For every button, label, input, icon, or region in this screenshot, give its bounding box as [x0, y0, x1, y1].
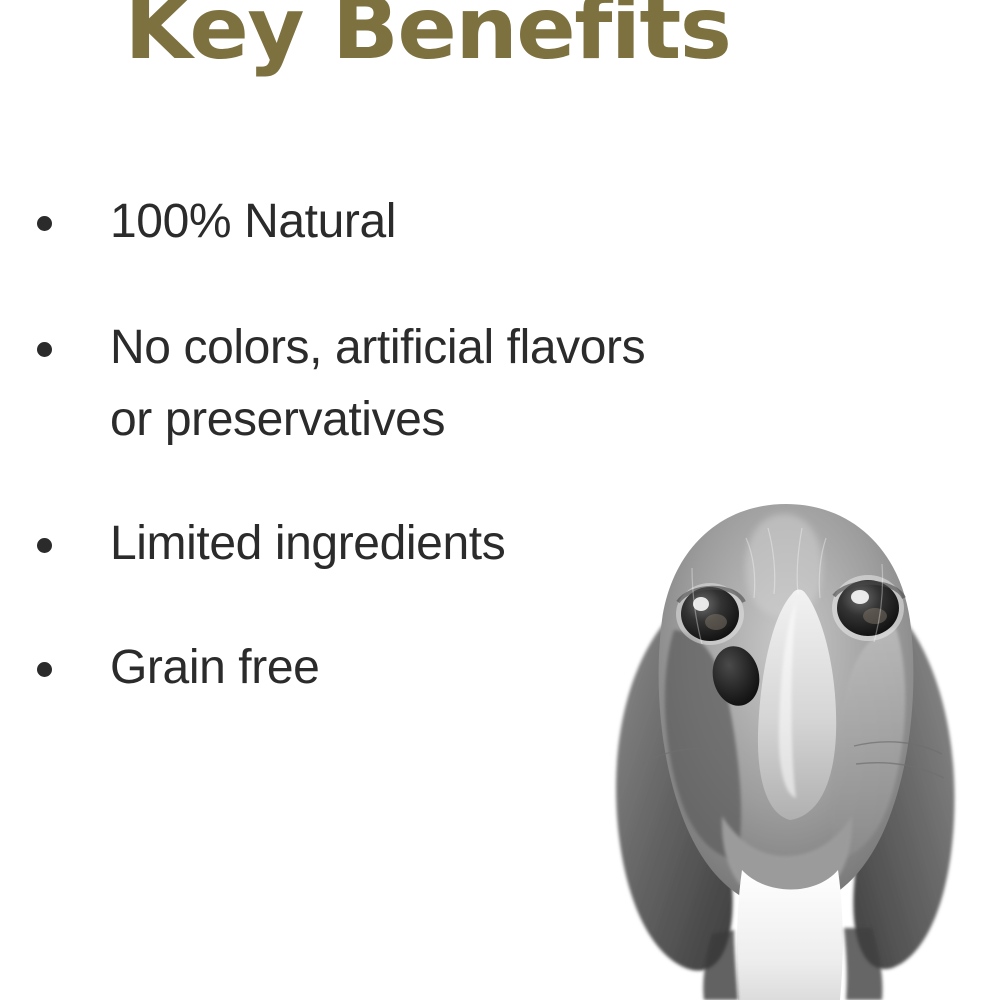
list-item-label-line2: or preservatives — [110, 384, 840, 456]
page-title: Key Benefits — [0, 0, 864, 72]
dog-photo — [596, 498, 968, 1000]
list-item-label: 100% Natural — [110, 186, 840, 258]
dog-chest — [737, 870, 843, 1000]
bullet-dot-icon — [37, 342, 52, 357]
list-item-label: No colors, artificial flavors — [110, 312, 840, 384]
bullet-dot-icon — [37, 662, 52, 677]
bullet-dot-icon — [37, 216, 52, 231]
dog-right-eye — [832, 575, 904, 641]
key-benefits-panel: Key Benefits 100% Natural No colors, art… — [0, 0, 1000, 1000]
beagle-dog-illustration — [596, 498, 968, 1000]
list-item: No colors, artificial flavors or preserv… — [0, 312, 840, 456]
bullet-dot-icon — [37, 538, 52, 553]
list-item: 100% Natural — [0, 186, 840, 258]
dog-left-eye — [676, 583, 744, 645]
